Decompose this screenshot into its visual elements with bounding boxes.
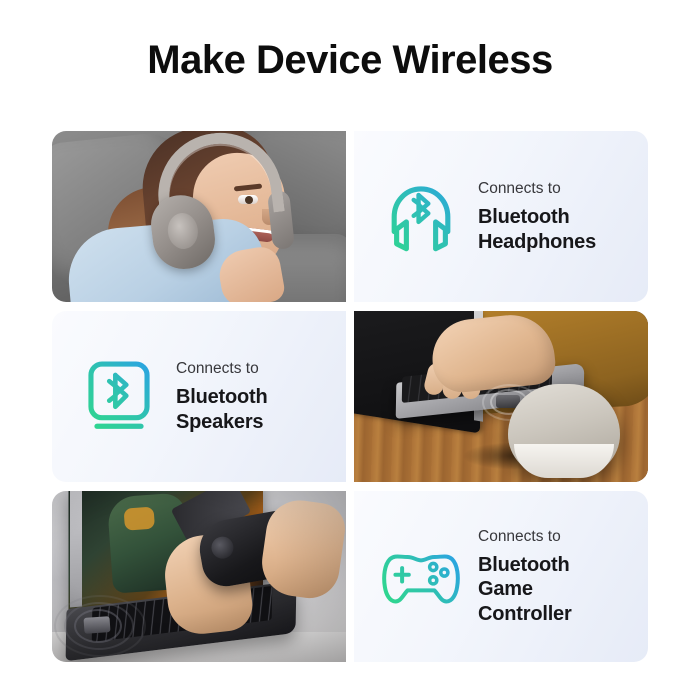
info-panel-bluetooth-game-controller: Connects to Bluetooth Game Controller	[354, 491, 648, 662]
info-text-bluetooth-headphones: Connects to Bluetooth Headphones	[478, 179, 596, 254]
feature-card-grid: Connects to Bluetooth Headphones	[52, 131, 648, 656]
bluetooth-headphones-icon	[380, 176, 462, 258]
page-title: Make Device Wireless	[0, 38, 700, 83]
feature-card-bluetooth-game-controller: Connects to Bluetooth Game Controller	[52, 491, 648, 662]
info-panel-bluetooth-speakers: Connects to Bluetooth Speakers	[52, 311, 346, 482]
bluetooth-speaker-icon	[78, 356, 160, 438]
feature-card-bluetooth-speakers: Connects to Bluetooth Speakers	[52, 311, 648, 482]
device-label: Bluetooth Game Controller	[478, 553, 572, 626]
info-text-bluetooth-speakers: Connects to Bluetooth Speakers	[176, 359, 268, 434]
eyebrow-label: Connects to	[176, 359, 268, 378]
photo-laptop-gaming-with-controller	[52, 491, 346, 662]
bluetooth-game-controller-icon	[380, 536, 462, 618]
photo-woman-wearing-headphones	[52, 131, 346, 302]
photo-laptop-with-smart-speaker	[354, 311, 648, 482]
eyebrow-label: Connects to	[478, 527, 572, 546]
eyebrow-label: Connects to	[478, 179, 596, 198]
device-label: Bluetooth Speakers	[176, 385, 268, 434]
feature-card-bluetooth-headphones: Connects to Bluetooth Headphones	[52, 131, 648, 302]
info-panel-bluetooth-headphones: Connects to Bluetooth Headphones	[354, 131, 648, 302]
product-feature-page: Make Device Wireless	[0, 0, 700, 700]
device-label: Bluetooth Headphones	[478, 205, 596, 254]
info-text-bluetooth-game-controller: Connects to Bluetooth Game Controller	[478, 527, 572, 627]
